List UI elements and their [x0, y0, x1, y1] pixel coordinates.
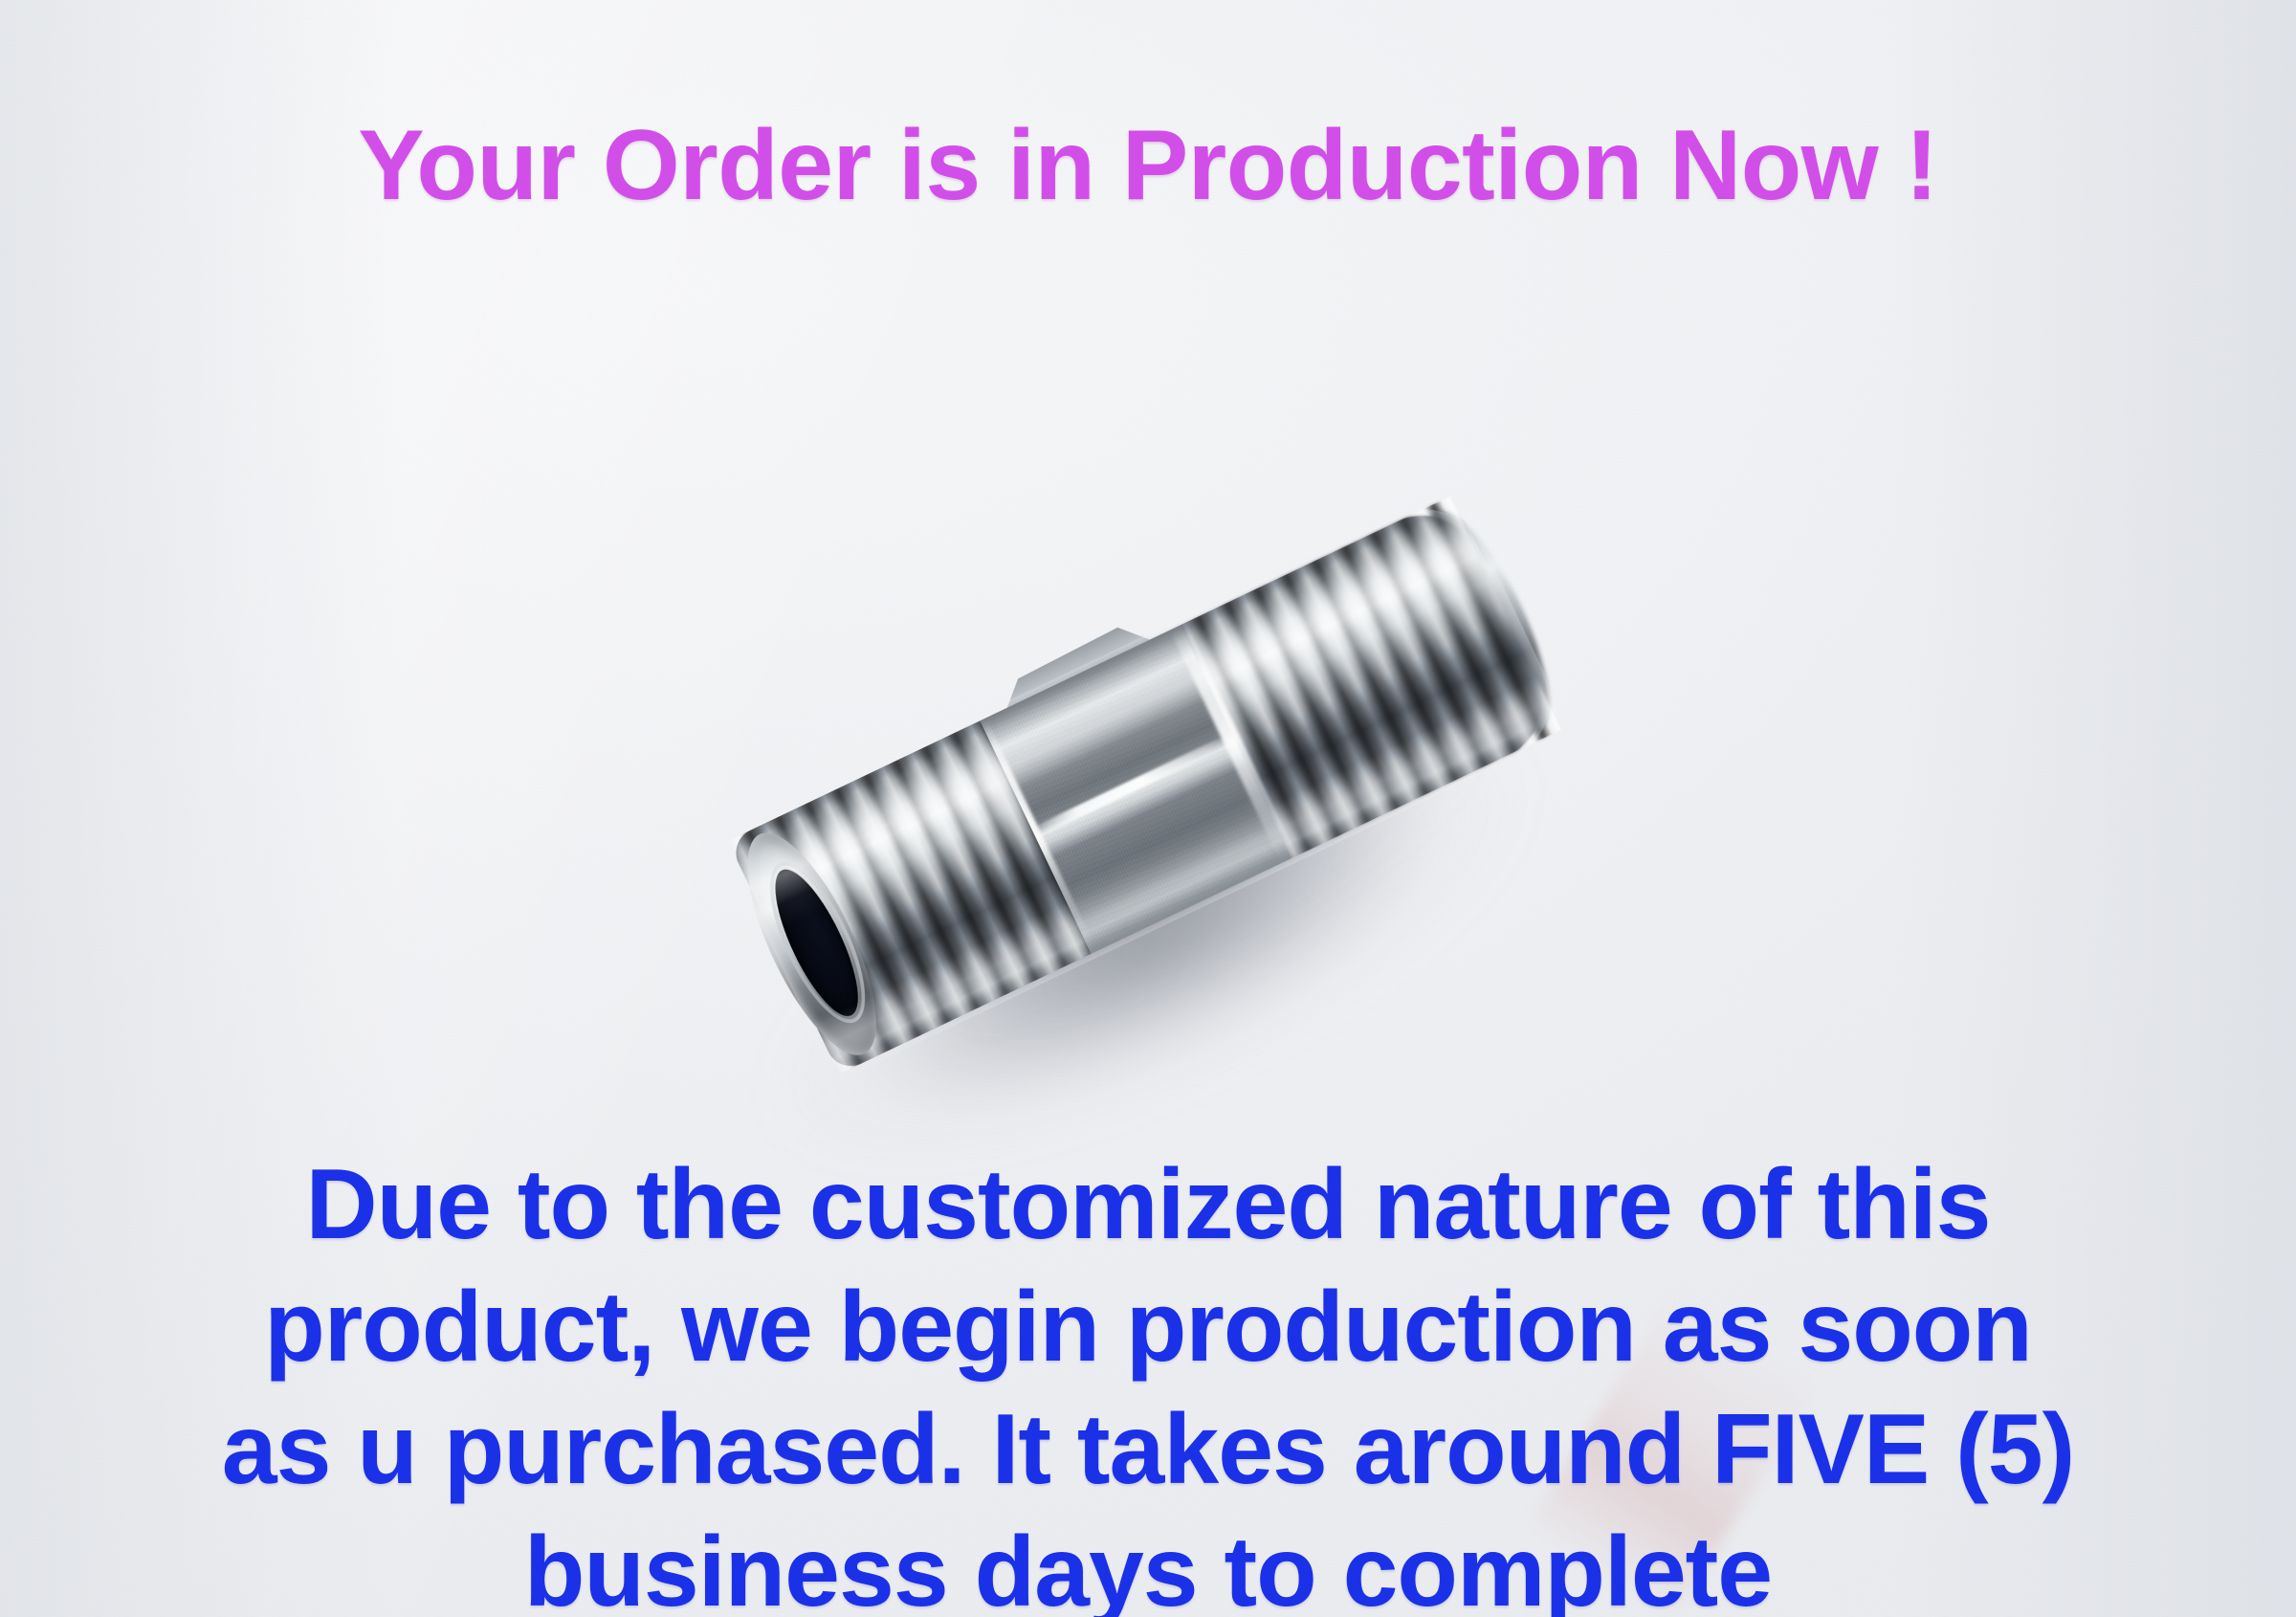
notice-line-4: business days to complete [0, 1511, 2296, 1617]
production-notice-text: Due to the customized nature of this pro… [0, 1143, 2296, 1617]
page-title: Your Order is in Production Now ! [0, 113, 2296, 218]
notice-line-2: product, we begin production as soon [0, 1266, 2296, 1388]
notice-banner: Your Order is in Production Now ! [0, 0, 2296, 1617]
notice-line-3: as u purchased. It takes around FIVE (5) [0, 1388, 2296, 1511]
product-photo [689, 483, 1607, 1105]
notice-line-1: Due to the customized nature of this [0, 1143, 2296, 1266]
